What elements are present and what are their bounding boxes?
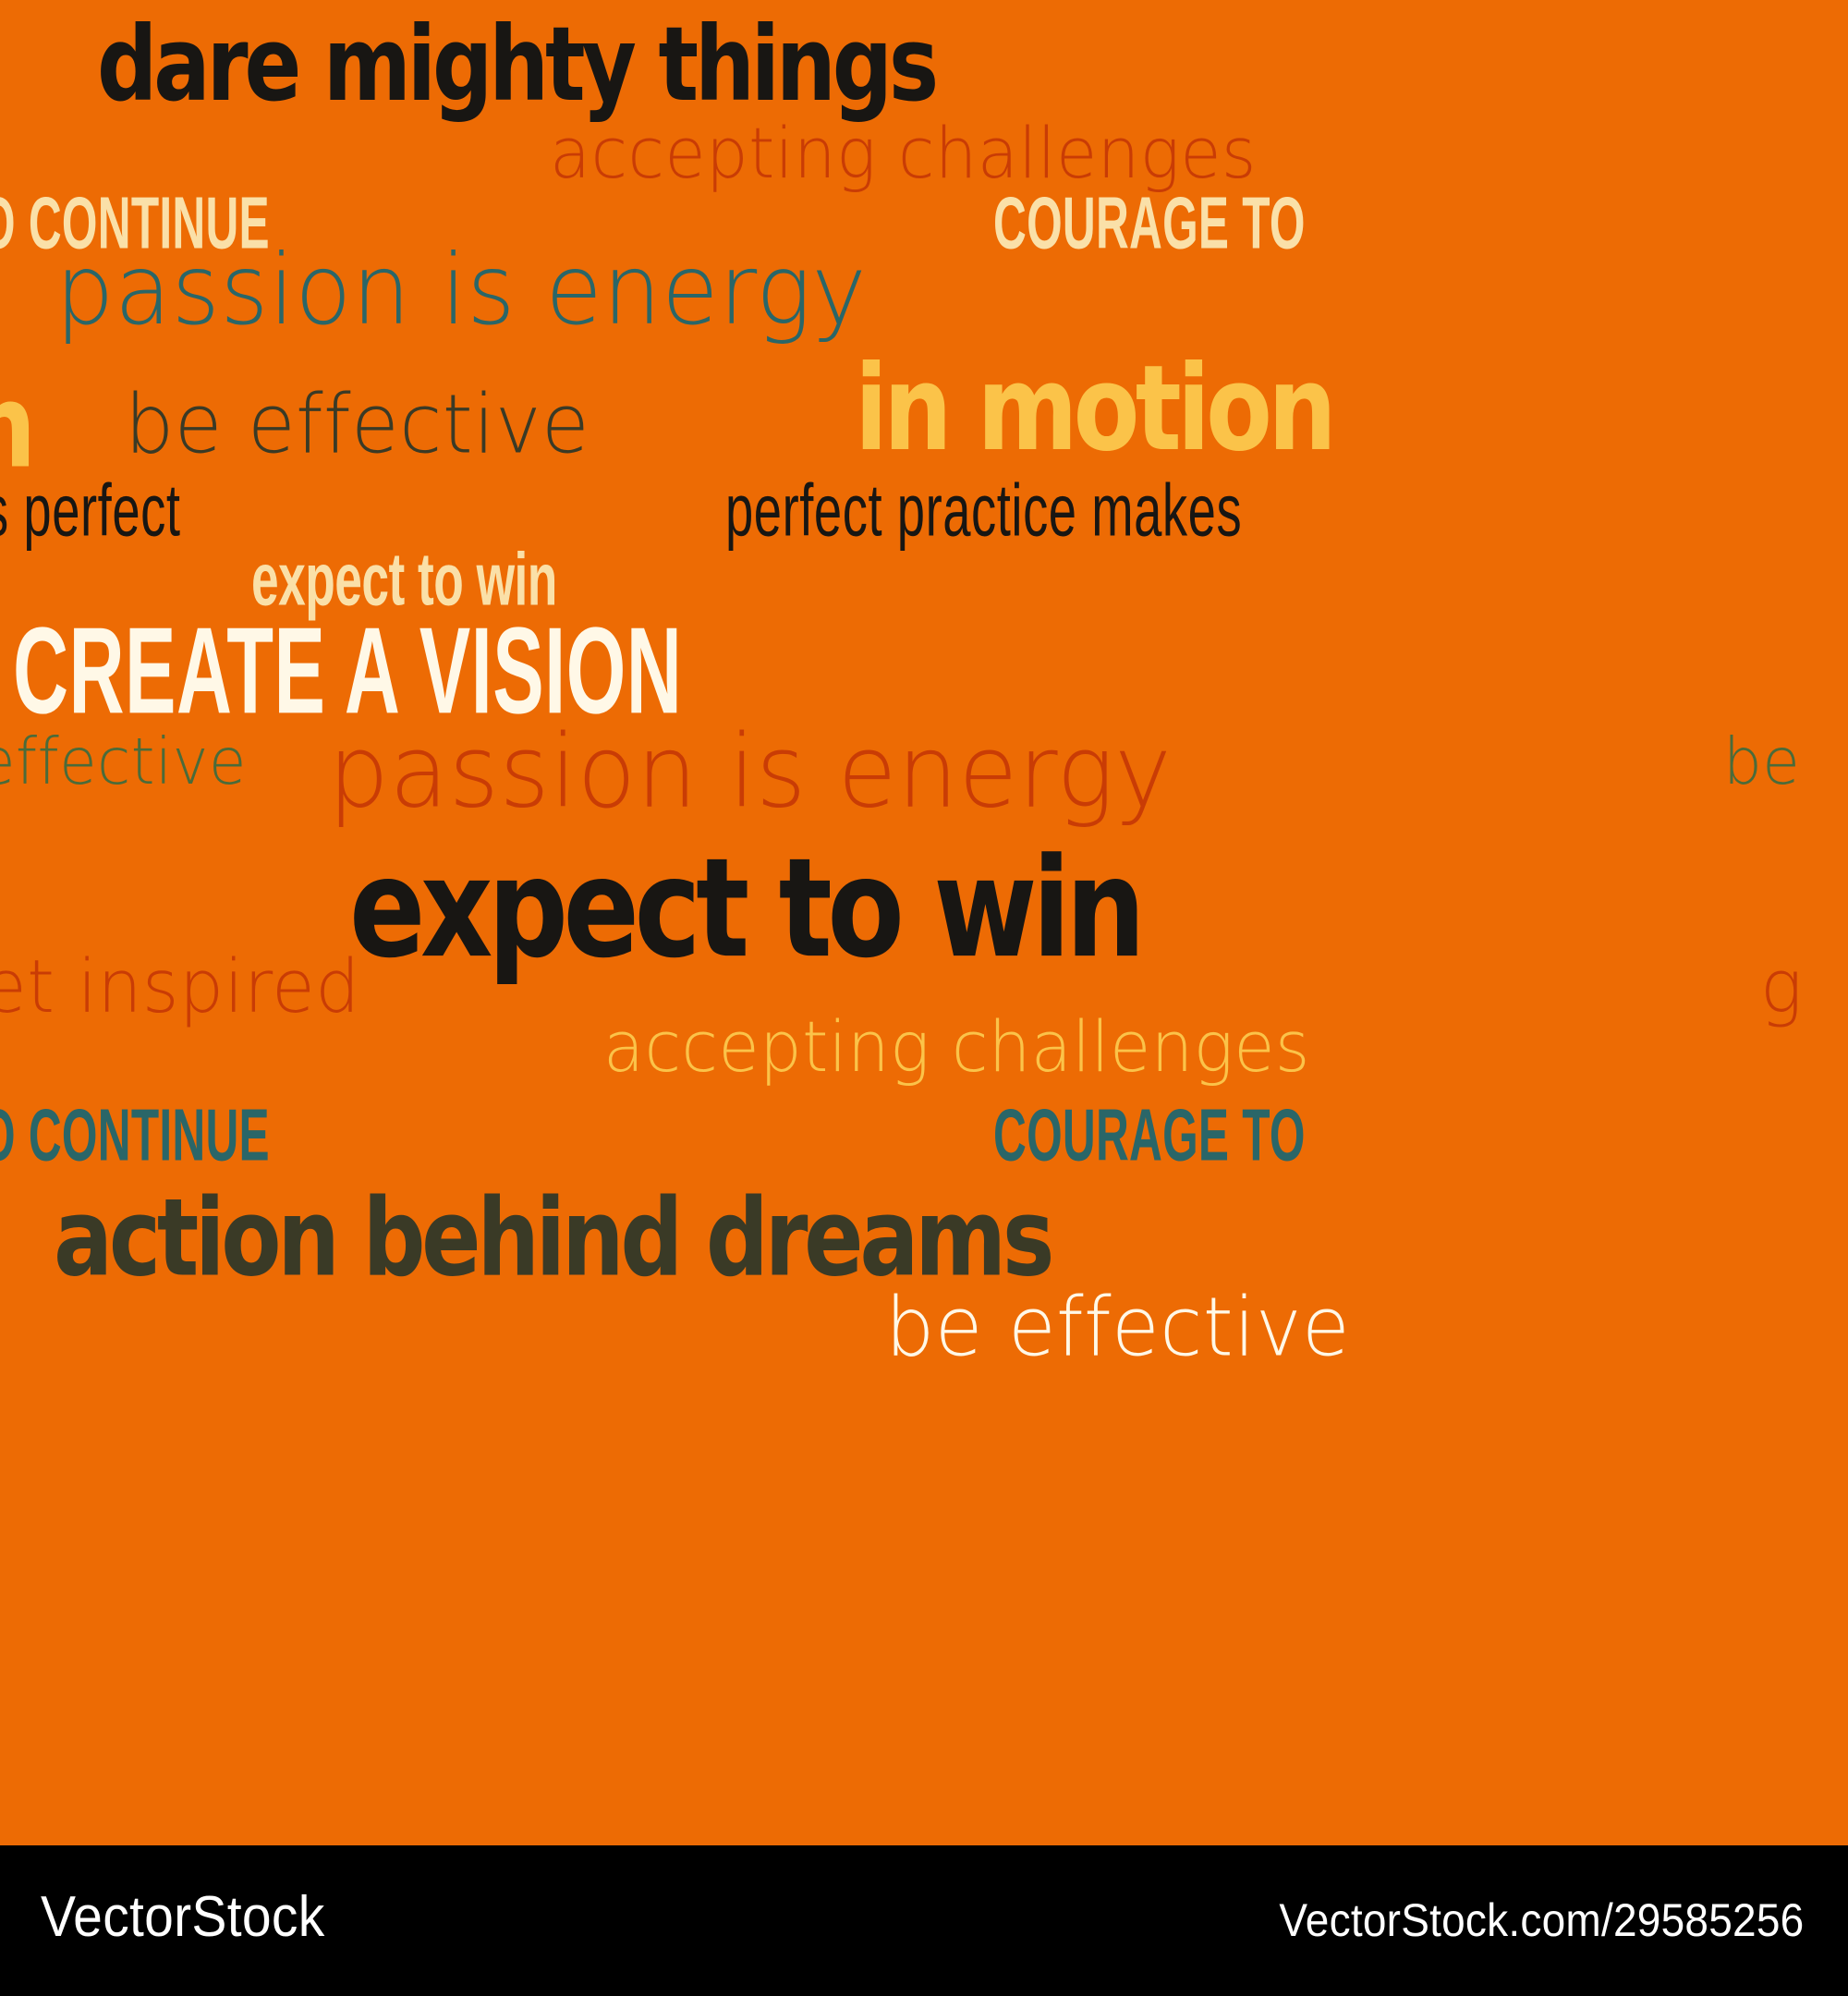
word-g-fragment-right: g (1760, 950, 1803, 1024)
word-accepting-challenges-bottom: accepting challenges (603, 1012, 1310, 1082)
word-passion-is-energy-red: passion is energy (328, 721, 1172, 822)
wordcloud-canvas: dare mighty things accepting challenges … (0, 0, 1848, 1845)
word-be-fragment-right: be (1723, 730, 1800, 794)
word-be-effective-olive: be effective (125, 383, 590, 465)
word-to-continue-bottom: O CONTINUE (0, 1100, 270, 1173)
word-makes-perfect-fragment: s perfect (0, 473, 181, 547)
watermark-bar: VectorStock VectorStock.com/29585256 (0, 1845, 1848, 1996)
word-courage-to-bottom: COURAGE TO (993, 1100, 1306, 1173)
word-perfect-practice-makes: perfect practice makes (725, 473, 1242, 547)
word-effective-fragment: effective (0, 730, 247, 794)
poster-root: dare mighty things accepting challenges … (0, 0, 1848, 1996)
word-courage-to-top: COURAGE TO (993, 188, 1306, 261)
word-be-effective-bottom: be effective (885, 1286, 1350, 1368)
vectorstock-url: VectorStock.com/29585256 (1279, 1893, 1804, 1947)
word-accepting-challenges-top: accepting challenges (550, 118, 1257, 189)
word-get-inspired-fragment: et inspired (0, 950, 360, 1024)
word-expect-to-win-big: expect to win (349, 841, 1140, 978)
word-in-motion: in motion (855, 349, 1332, 468)
vectorstock-logo: VectorStock (41, 1884, 325, 1950)
word-action-behind-dreams: action behind dreams (54, 1185, 1051, 1292)
word-passion-is-energy-teal: passion is energy (55, 242, 867, 339)
word-dare-mighty-things: dare mighty things (97, 13, 935, 116)
